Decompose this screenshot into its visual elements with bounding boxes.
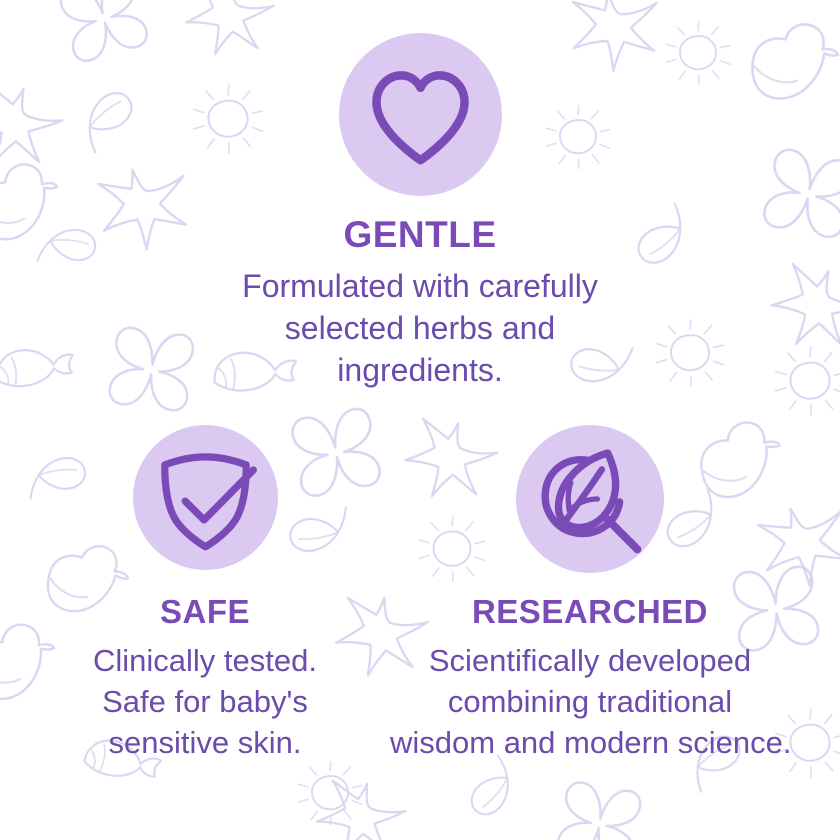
safe-description: Clinically tested. Safe for baby's sensi… (30, 640, 380, 764)
gentle-description: Formulated with carefully selected herbs… (0, 266, 840, 392)
researched-icon-badge (516, 425, 664, 573)
feature-gentle: GENTLE Formulated with carefully selecte… (0, 33, 840, 392)
gentle-desc-line-1: Formulated with carefully (0, 266, 840, 308)
feature-researched: RESEARCHED Scientifically developed comb… (390, 425, 790, 764)
safe-title: SAFE (30, 595, 380, 628)
safe-desc-line-2: Safe for baby's (30, 681, 380, 722)
safe-desc-line-3: sensitive skin. (30, 722, 380, 763)
researched-desc-line-3: wisdom and modern science. (390, 722, 790, 763)
researched-title: RESEARCHED (390, 595, 790, 628)
feature-safe: SAFE Clinically tested. Safe for baby's … (30, 425, 380, 764)
gentle-desc-line-3: ingredients. (0, 350, 840, 392)
safe-desc-line-1: Clinically tested. (30, 640, 380, 681)
researched-description: Scientifically developed combining tradi… (390, 640, 790, 764)
safe-icon-badge (133, 425, 278, 570)
heart-icon (339, 33, 502, 196)
shield-check-icon (133, 425, 278, 570)
researched-desc-line-1: Scientifically developed (390, 640, 790, 681)
benefits-panel: GENTLE Formulated with carefully selecte… (0, 0, 840, 840)
leaf-magnifier-icon (516, 425, 664, 573)
gentle-icon-badge (339, 33, 502, 196)
researched-desc-line-2: combining traditional (390, 681, 790, 722)
gentle-title: GENTLE (0, 216, 840, 253)
gentle-desc-line-2: selected herbs and (0, 308, 840, 350)
